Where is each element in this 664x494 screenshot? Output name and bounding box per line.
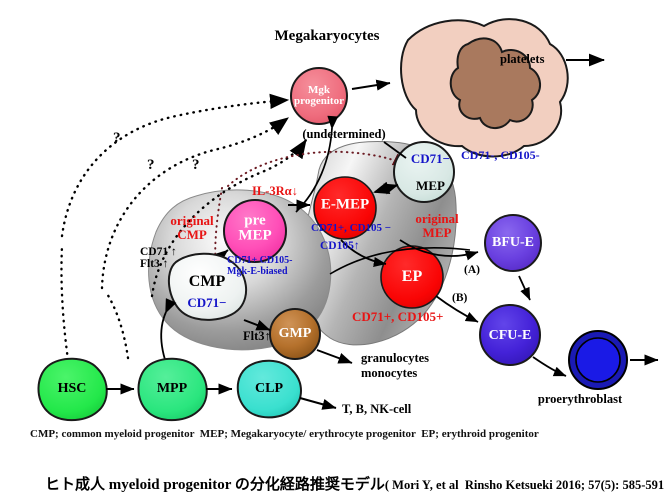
abbreviations-caption: CMP; common myeloid progenitor MEP; Mega… [30,428,539,440]
branch-a-label: (A) [464,264,480,276]
branch-b-label: (B) [452,292,467,304]
proerythroblast-cell [569,331,627,389]
granulocytes-label: granulocytes [361,352,429,365]
cd105-up-label: CD105↑ [320,240,360,252]
hsc-cell [38,359,106,420]
question-mark-2: ? [147,158,155,174]
main-caption: ヒト成人 myeloid progenitor の分化経路推奨モデル( Mori… [30,456,664,494]
platelets-label: platelets [500,53,544,66]
arrow-gmp-to-granulocytes [317,350,352,363]
arrow-mgkprog-to-mgk [352,83,390,89]
gmp-cell [270,309,320,359]
cd71-minus-mep-cell [394,142,454,202]
mep-marker-label: CD71-, CD105- [461,149,540,162]
ep-cell [381,246,443,308]
megakaryocytes-title: Megakaryocytes [275,29,380,45]
main-caption-jp: ヒト成人 myeloid progenitor の分化経路推奨モデル [45,477,385,493]
mgk-progenitor-cell [291,68,347,124]
proerythroblast-label: proerythroblast [538,393,622,406]
megakaryocyte-cell [401,19,568,156]
undetermined-label: (undetermined) [302,128,385,141]
cd71-flt3-up-label: CD71 ↑ Flt3 ↑ [140,246,177,270]
mpp-cell [138,359,206,420]
arrow-clp-to-lymphoid [300,398,336,408]
e-mep-marker-label: CD71+, CD105 − [311,223,391,235]
il3ra-label: IL-3Rα↓ [252,185,298,198]
main-caption-reference: ( Mori Y, et al Rinsho Ketsueki 2016; 57… [385,478,664,492]
pre-mep-cell [224,200,286,262]
lymphoid-label: T, B, NK-cell [342,403,411,416]
monocytes-label: monocytes [361,367,417,380]
bfu-e-cell [485,215,541,271]
clp-cell [238,361,301,418]
original-mep-label: original MEP [415,212,458,239]
diagram-canvas: Megakaryocytes platelets Mgk progenitor … [0,0,664,494]
flt3-up-label: Flt3↑ [243,330,271,343]
question-mark-3: ? [192,158,200,174]
pre-mep-marker-label: CD71+ CD105- Mgk-E-biased [227,256,292,277]
arrow-bfue-to-cfue [519,276,530,300]
arrow-cfue-to-proerythroblast [533,357,566,376]
cfu-e-cell [480,305,540,365]
question-mark-1: ? [113,131,121,147]
original-cmp-label: original CMP [170,214,213,241]
cmp-marker-label: CD71− [187,296,226,310]
ep-marker-label: CD71+, CD105+ [352,310,443,324]
dotted-lineage-links [61,246,128,360]
